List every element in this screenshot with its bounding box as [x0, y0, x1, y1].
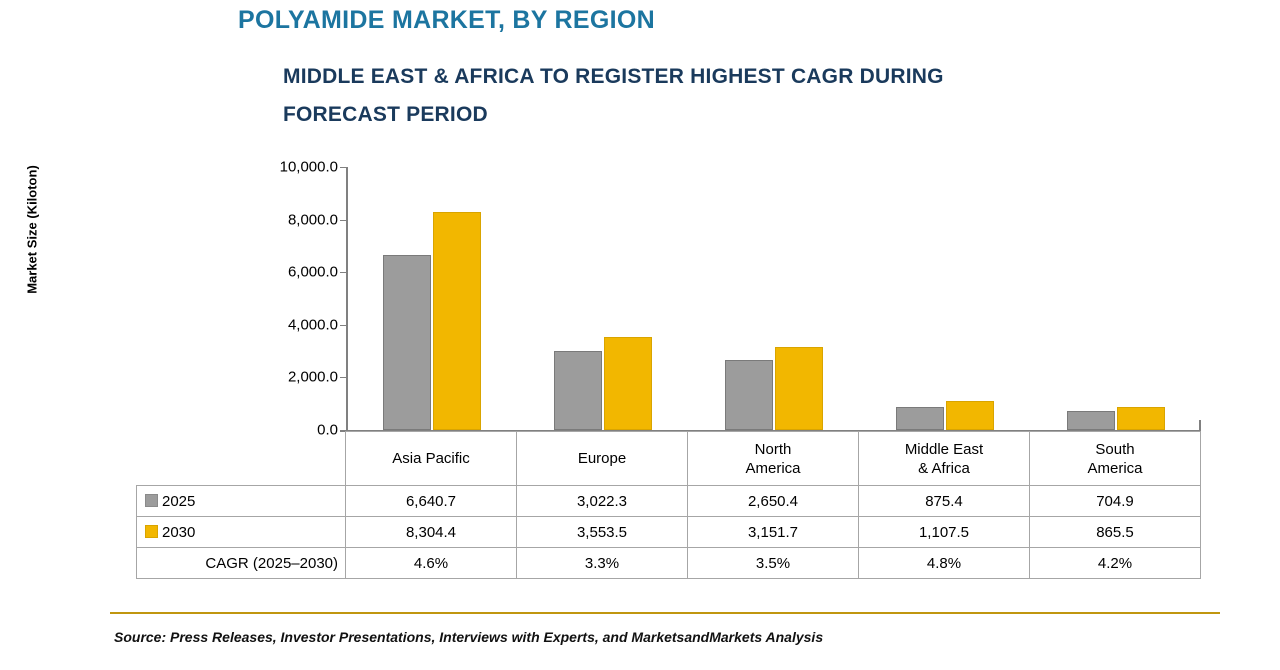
table-cell: 4.6% — [346, 548, 517, 579]
table-cell: 4.2% — [1030, 548, 1201, 579]
table-cell: 704.9 — [1030, 486, 1201, 517]
bar-2025-europe — [554, 351, 602, 430]
column-header-line: & Africa — [859, 459, 1029, 478]
table-cell: 865.5 — [1030, 517, 1201, 548]
table-header-row: Asia Pacific Europe NorthAmerica Middle … — [137, 432, 1201, 486]
column-header-south-america: SouthAmerica — [1030, 432, 1201, 486]
bar-2025-asia-pacific — [383, 255, 431, 430]
table-cell: 6,640.7 — [346, 486, 517, 517]
bar-group — [346, 167, 517, 430]
column-header-line: North — [688, 440, 858, 459]
column-header-europe: Europe — [517, 432, 688, 486]
bars-layer — [346, 167, 1201, 430]
y-axis-tick-label: 10,000.0 — [242, 159, 338, 176]
column-header-line: Europe — [517, 449, 687, 468]
column-header-line: South — [1030, 440, 1200, 459]
legend-swatch-icon — [145, 525, 158, 538]
bar-group — [688, 167, 859, 430]
table-cell: 1,107.5 — [859, 517, 1030, 548]
y-axis-title: Market Size (Kiloton) — [25, 150, 40, 310]
bar-2030-asia-pacific — [433, 212, 481, 430]
header-blank-cell — [137, 432, 346, 486]
y-axis-tick-label: 2,000.0 — [242, 369, 338, 386]
column-header-line: America — [1030, 459, 1200, 478]
legend-label: 2025 — [162, 493, 195, 510]
y-axis-tick-mark — [340, 272, 347, 273]
column-header-middle-east-africa: Middle East& Africa — [859, 432, 1030, 486]
table-cell: 4.8% — [859, 548, 1030, 579]
column-header-line: Asia Pacific — [346, 449, 516, 468]
column-header-line: Middle East — [859, 440, 1029, 459]
bar-group — [517, 167, 688, 430]
bar-2025-middle-east-africa — [896, 407, 944, 430]
bar-2030-middle-east-africa — [946, 401, 994, 430]
table-row: 20308,304.43,553.53,151.71,107.5865.5 — [137, 517, 1201, 548]
y-axis-tick-mark — [340, 220, 347, 221]
data-table: Asia Pacific Europe NorthAmerica Middle … — [136, 431, 1201, 579]
column-header-asia-pacific: Asia Pacific — [346, 432, 517, 486]
bar-group — [859, 167, 1030, 430]
y-axis-tick-label: 8,000.0 — [242, 211, 338, 228]
bar-2025-south-america — [1067, 411, 1115, 430]
table-cell: 8,304.4 — [346, 517, 517, 548]
bar-2030-north-america — [775, 347, 823, 430]
cagr-row-label: CAGR (2025–2030) — [137, 548, 346, 579]
column-header-north-america: NorthAmerica — [688, 432, 859, 486]
source-note: Source: Press Releases, Investor Present… — [114, 629, 823, 645]
table-row: CAGR (2025–2030)4.6%3.3%3.5%4.8%4.2% — [137, 548, 1201, 579]
legend-row-2025: 2025 — [137, 486, 346, 517]
y-axis-tick-mark — [340, 377, 347, 378]
bar-2030-europe — [604, 337, 652, 430]
table-cell: 3.5% — [688, 548, 859, 579]
bar-group — [1030, 167, 1201, 430]
y-axis-tick-label: 6,000.0 — [242, 264, 338, 281]
bar-2030-south-america — [1117, 407, 1165, 430]
table-cell: 3.3% — [517, 548, 688, 579]
table-cell: 3,553.5 — [517, 517, 688, 548]
legend-label: 2030 — [162, 524, 195, 541]
bar-2025-north-america — [725, 360, 773, 430]
column-header-line: America — [688, 459, 858, 478]
table-cell: 3,022.3 — [517, 486, 688, 517]
y-axis-tick-mark — [340, 167, 347, 168]
footer-divider — [110, 612, 1220, 614]
table-cell: 2,650.4 — [688, 486, 859, 517]
y-axis-tick-mark — [340, 325, 347, 326]
legend-row-2030: 2030 — [137, 517, 346, 548]
table-body: 20256,640.73,022.32,650.4875.4704.920308… — [137, 486, 1201, 579]
table-cell: 875.4 — [859, 486, 1030, 517]
y-axis-tick-label: 4,000.0 — [242, 316, 338, 333]
table-row: 20256,640.73,022.32,650.4875.4704.9 — [137, 486, 1201, 517]
legend-swatch-icon — [145, 494, 158, 507]
table-cell: 3,151.7 — [688, 517, 859, 548]
